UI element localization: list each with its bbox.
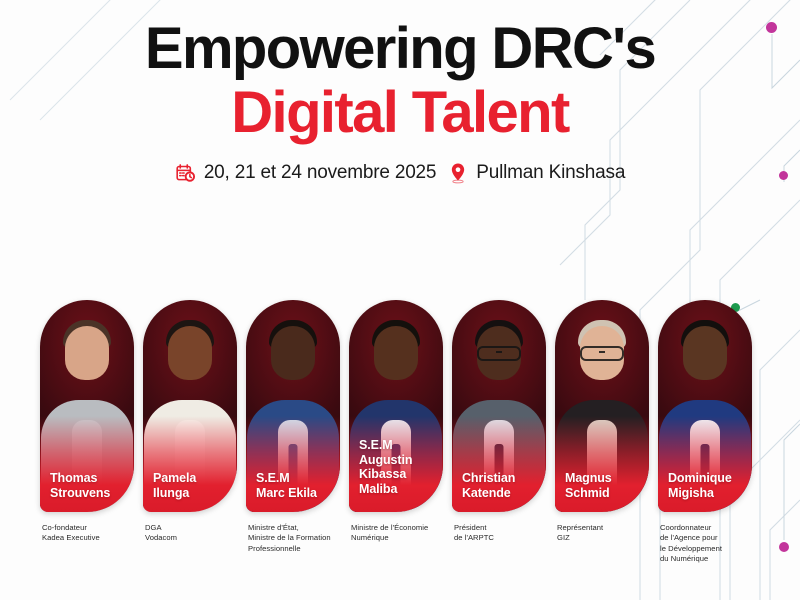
speaker-photo: ChristianKatende — [452, 300, 546, 512]
speaker-name-line: Dominique — [668, 471, 752, 486]
speaker-name-line: Schmid — [565, 486, 649, 501]
speaker-card[interactable]: DominiqueMigishaCoordonnateurde l'Agence… — [658, 300, 752, 565]
speaker-name-line: S.E.M — [256, 471, 340, 486]
speaker-photo: S.E.MMarc Ekila — [246, 300, 340, 512]
location-pin-icon — [448, 162, 468, 184]
speaker-photo: DominiqueMigisha — [658, 300, 752, 512]
glasses-icon — [580, 346, 624, 361]
speaker-name-line: Maliba — [359, 482, 443, 497]
poster-canvas: Empowering DRC's Digital Talent 20, 21 e… — [0, 0, 800, 600]
event-date-text: 20, 21 et 24 novembre 2025 — [204, 162, 436, 184]
speaker-photo: MagnusSchmid — [555, 300, 649, 512]
speaker-name-line: S.E.M — [359, 438, 443, 453]
speaker-role: Ministre de l'ÉconomieNumérique — [349, 523, 443, 544]
speaker-name: S.E.MMarc Ekila — [246, 471, 340, 512]
event-venue-text: Pullman Kinshasa — [476, 162, 625, 184]
calendar-icon — [175, 163, 196, 184]
speaker-role-line: Co-fondateur — [42, 523, 134, 533]
speaker-role-line: du Numérique — [660, 554, 752, 564]
speaker-name: ThomasStrouvens — [40, 471, 134, 512]
speaker-card[interactable]: PamelaIlungaDGAVodacom — [143, 300, 237, 565]
speakers-row: ThomasStrouvensCo-fondateurKadea Executi… — [40, 300, 768, 565]
speaker-role-line: le Développement — [660, 544, 752, 554]
speaker-role: Coordonnateurde l'Agence pourle Développ… — [658, 523, 752, 565]
title-line-2: Digital Talent — [0, 80, 800, 144]
speaker-photo: ThomasStrouvens — [40, 300, 134, 512]
title-line-1: Empowering DRC's — [0, 0, 800, 80]
magenta-dot-bottom-right — [779, 542, 789, 552]
poster-header: Empowering DRC's Digital Talent 20, 21 e… — [0, 0, 800, 184]
speaker-role-line: Numérique — [351, 533, 443, 543]
speaker-role-line: Président — [454, 523, 546, 533]
speaker-name: ChristianKatende — [452, 471, 546, 512]
speaker-name-line: Christian — [462, 471, 546, 486]
speaker-card[interactable]: S.E.MMarc EkilaMinistre d'État,Ministre … — [246, 300, 340, 565]
speaker-role-line: Ministre de la Formation — [248, 533, 340, 543]
speaker-role-line: Kadea Executive — [42, 533, 134, 543]
speaker-name-line: Augustin — [359, 453, 443, 468]
speaker-role: Ministre d'État,Ministre de la Formation… — [246, 523, 340, 554]
speaker-name-line: Thomas — [50, 471, 134, 486]
event-meta: 20, 21 et 24 novembre 2025 Pullman Kinsh… — [0, 162, 800, 184]
speaker-name-line: Strouvens — [50, 486, 134, 501]
speaker-role: Co-fondateurKadea Executive — [40, 523, 134, 544]
speaker-role-line: Coordonnateur — [660, 523, 752, 533]
speaker-role: DGAVodacom — [143, 523, 237, 544]
event-date-group: 20, 21 et 24 novembre 2025 — [175, 162, 436, 184]
speaker-role: ReprésentantGIZ — [555, 523, 649, 544]
speaker-name-line: Kibassa — [359, 467, 443, 482]
speaker-role-line: de l'ARPTC — [454, 533, 546, 543]
speaker-name: S.E.MAugustinKibassaMaliba — [349, 438, 443, 508]
speaker-role-line: DGA — [145, 523, 237, 533]
speaker-role-line: Ministre de l'Économie — [351, 523, 443, 533]
speaker-name: DominiqueMigisha — [658, 471, 752, 512]
speaker-role-line: Ministre d'État, — [248, 523, 340, 533]
speaker-role-line: GIZ — [557, 533, 649, 543]
speaker-name-line: Migisha — [668, 486, 752, 501]
speaker-card[interactable]: MagnusSchmidReprésentantGIZ — [555, 300, 649, 565]
speaker-role: Présidentde l'ARPTC — [452, 523, 546, 544]
speaker-role-line: Professionnelle — [248, 544, 340, 554]
speaker-photo: S.E.MAugustinKibassaMaliba — [349, 300, 443, 512]
speaker-photo: PamelaIlunga — [143, 300, 237, 512]
speaker-role-line: Vodacom — [145, 533, 237, 543]
speaker-card[interactable]: ThomasStrouvensCo-fondateurKadea Executi… — [40, 300, 134, 565]
speaker-card[interactable]: S.E.MAugustinKibassaMalibaMinistre de l'… — [349, 300, 443, 565]
speaker-name: MagnusSchmid — [555, 471, 649, 512]
speaker-card[interactable]: ChristianKatendePrésidentde l'ARPTC — [452, 300, 546, 565]
speaker-name-line: Marc Ekila — [256, 486, 340, 501]
speaker-name-line: Pamela — [153, 471, 237, 486]
speaker-name-line: Ilunga — [153, 486, 237, 501]
speaker-role-line: Représentant — [557, 523, 649, 533]
speaker-role-line: de l'Agence pour — [660, 533, 752, 543]
speaker-name-line: Katende — [462, 486, 546, 501]
glasses-icon — [477, 346, 521, 361]
speaker-name: PamelaIlunga — [143, 471, 237, 512]
speaker-name-line: Magnus — [565, 471, 649, 486]
event-venue-group: Pullman Kinshasa — [448, 162, 625, 184]
